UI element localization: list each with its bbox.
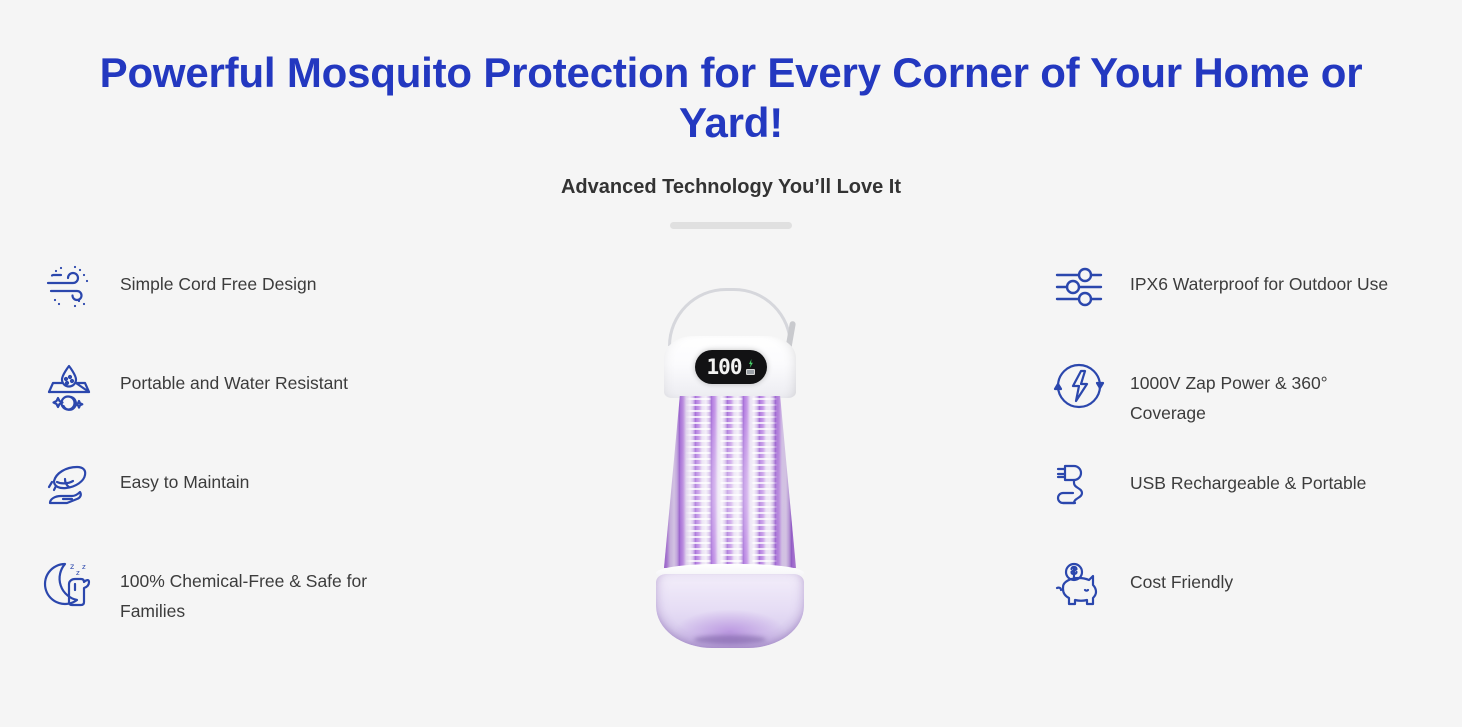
cleaning-hand-icon xyxy=(40,456,98,514)
battery-charging-icon xyxy=(746,359,755,375)
feature-column-left: Simple Cord Free Design xyxy=(40,258,460,626)
piggy-bank-icon xyxy=(1050,556,1108,614)
feature-label: 1000V Zap Power & 360° Coverage xyxy=(1130,357,1402,428)
product-display: 100 xyxy=(695,350,767,384)
zap-rotation-icon xyxy=(1050,357,1108,415)
feature-item: z z z 100% Chemical-Free & Safe for Fami… xyxy=(40,555,460,626)
product-uv-grid xyxy=(664,396,796,568)
feature-item: Easy to Maintain xyxy=(40,456,460,526)
feature-item: Portable and Water Resistant xyxy=(40,357,460,427)
divider-wrap xyxy=(0,222,1462,229)
feature-column-right: IPX6 Waterproof for Outdoor Use 1000V Za… xyxy=(1050,258,1462,626)
feature-label: IPX6 Waterproof for Outdoor Use xyxy=(1130,258,1388,299)
feature-label: Easy to Maintain xyxy=(120,456,249,497)
svg-text:z: z xyxy=(76,569,80,577)
water-drop-icon xyxy=(40,357,98,415)
feature-item: IPX6 Waterproof for Outdoor Use xyxy=(1050,258,1462,328)
product-image-bug-zapper-lantern: 100 xyxy=(640,288,820,648)
feature-item: 1000V Zap Power & 360° Coverage xyxy=(1050,357,1462,428)
header: Powerful Mosquito Protection for Every C… xyxy=(0,48,1462,229)
usb-plug-icon xyxy=(1050,457,1108,515)
page-title: Powerful Mosquito Protection for Every C… xyxy=(0,48,1462,148)
feature-label: Portable and Water Resistant xyxy=(120,357,348,398)
feature-item: Simple Cord Free Design xyxy=(40,258,460,328)
feature-item: USB Rechargeable & Portable xyxy=(1050,457,1462,527)
feature-item: Cost Friendly xyxy=(1050,556,1462,626)
sliders-icon xyxy=(1050,258,1108,316)
page-subtitle: Advanced Technology You’ll Love It xyxy=(0,174,1462,200)
battery-glyph xyxy=(746,369,755,375)
feature-label: 100% Chemical-Free & Safe for Families xyxy=(120,555,410,626)
bolt-glyph xyxy=(748,359,754,368)
feature-label: USB Rechargeable & Portable xyxy=(1130,457,1366,498)
svg-text:z: z xyxy=(82,563,86,571)
feature-section: Powerful Mosquito Protection for Every C… xyxy=(0,0,1462,727)
svg-text:z: z xyxy=(70,562,74,571)
sleeping-moon-icon: z z z xyxy=(40,555,98,613)
display-value: 100 xyxy=(707,357,742,378)
product-base xyxy=(656,574,804,648)
feature-label: Simple Cord Free Design xyxy=(120,258,316,299)
feature-label: Cost Friendly xyxy=(1130,556,1233,597)
section-divider xyxy=(670,222,792,229)
wind-icon xyxy=(40,258,98,316)
